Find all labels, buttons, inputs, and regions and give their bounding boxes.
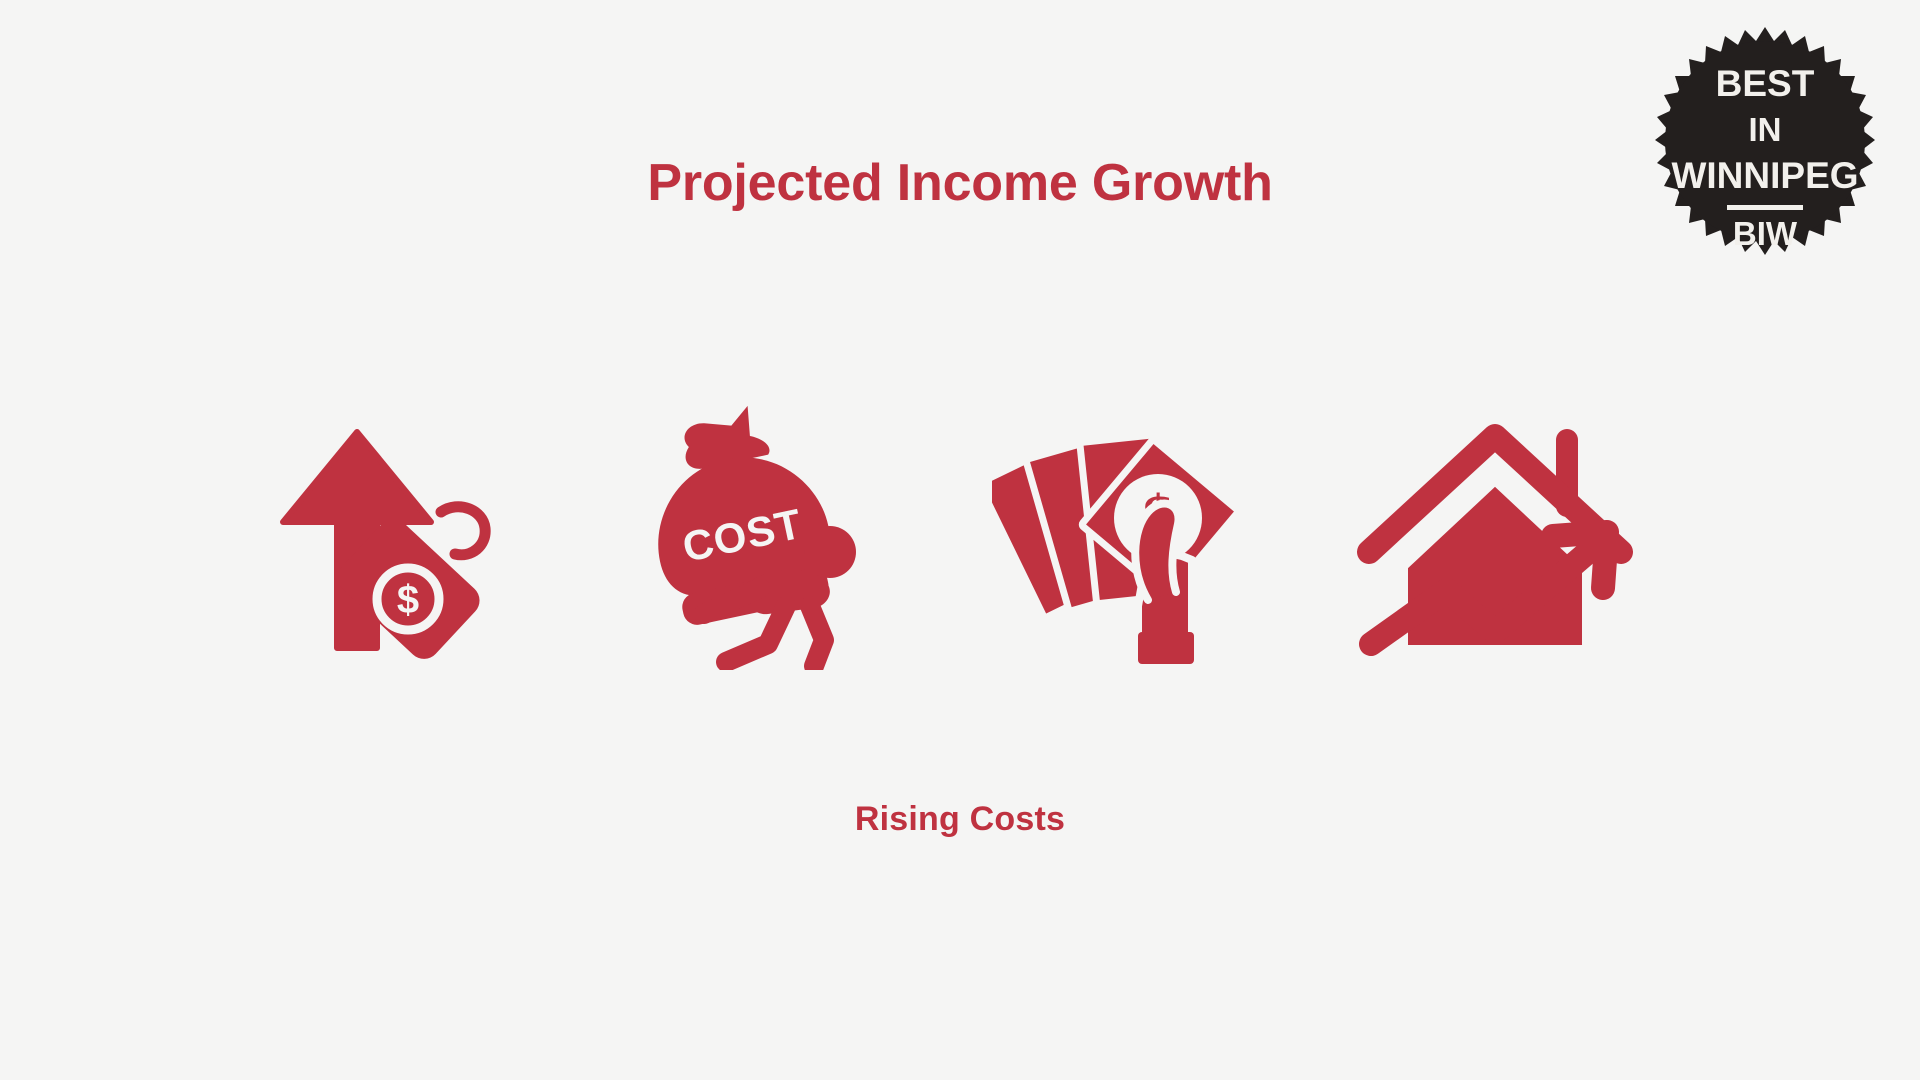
badge-line-winnipeg: WINNIPEG — [1671, 155, 1858, 196]
best-in-winnipeg-badge[interactable]: BEST IN WINNIPEG BIW — [1645, 25, 1885, 280]
hand-holding-cash-fan-icon: $ — [992, 400, 1262, 670]
caption-label: Rising Costs — [0, 800, 1920, 839]
badge-line-in: IN — [1749, 111, 1782, 148]
person-carrying-cost-bag-icon: COST — [618, 400, 888, 670]
page-title: Projected Income Growth — [0, 155, 1920, 212]
badge-line-best: BEST — [1716, 63, 1815, 104]
icon-slot-1: $ — [230, 380, 530, 690]
up-arrow-with-price-tag-icon: $ — [245, 400, 515, 670]
icon-slot-4 — [1350, 380, 1650, 690]
dollar-symbol: $ — [397, 578, 419, 622]
badge-line-biw: BIW — [1733, 215, 1798, 252]
icon-slot-3: $ — [977, 380, 1277, 690]
icon-row: $ COST — [230, 375, 1650, 695]
house-with-growth-arrow-icon — [1355, 400, 1645, 670]
slide-canvas: Projected Income Growth $ — [0, 0, 1920, 1080]
icon-slot-2: COST — [603, 380, 903, 690]
badge-divider — [1727, 205, 1803, 210]
